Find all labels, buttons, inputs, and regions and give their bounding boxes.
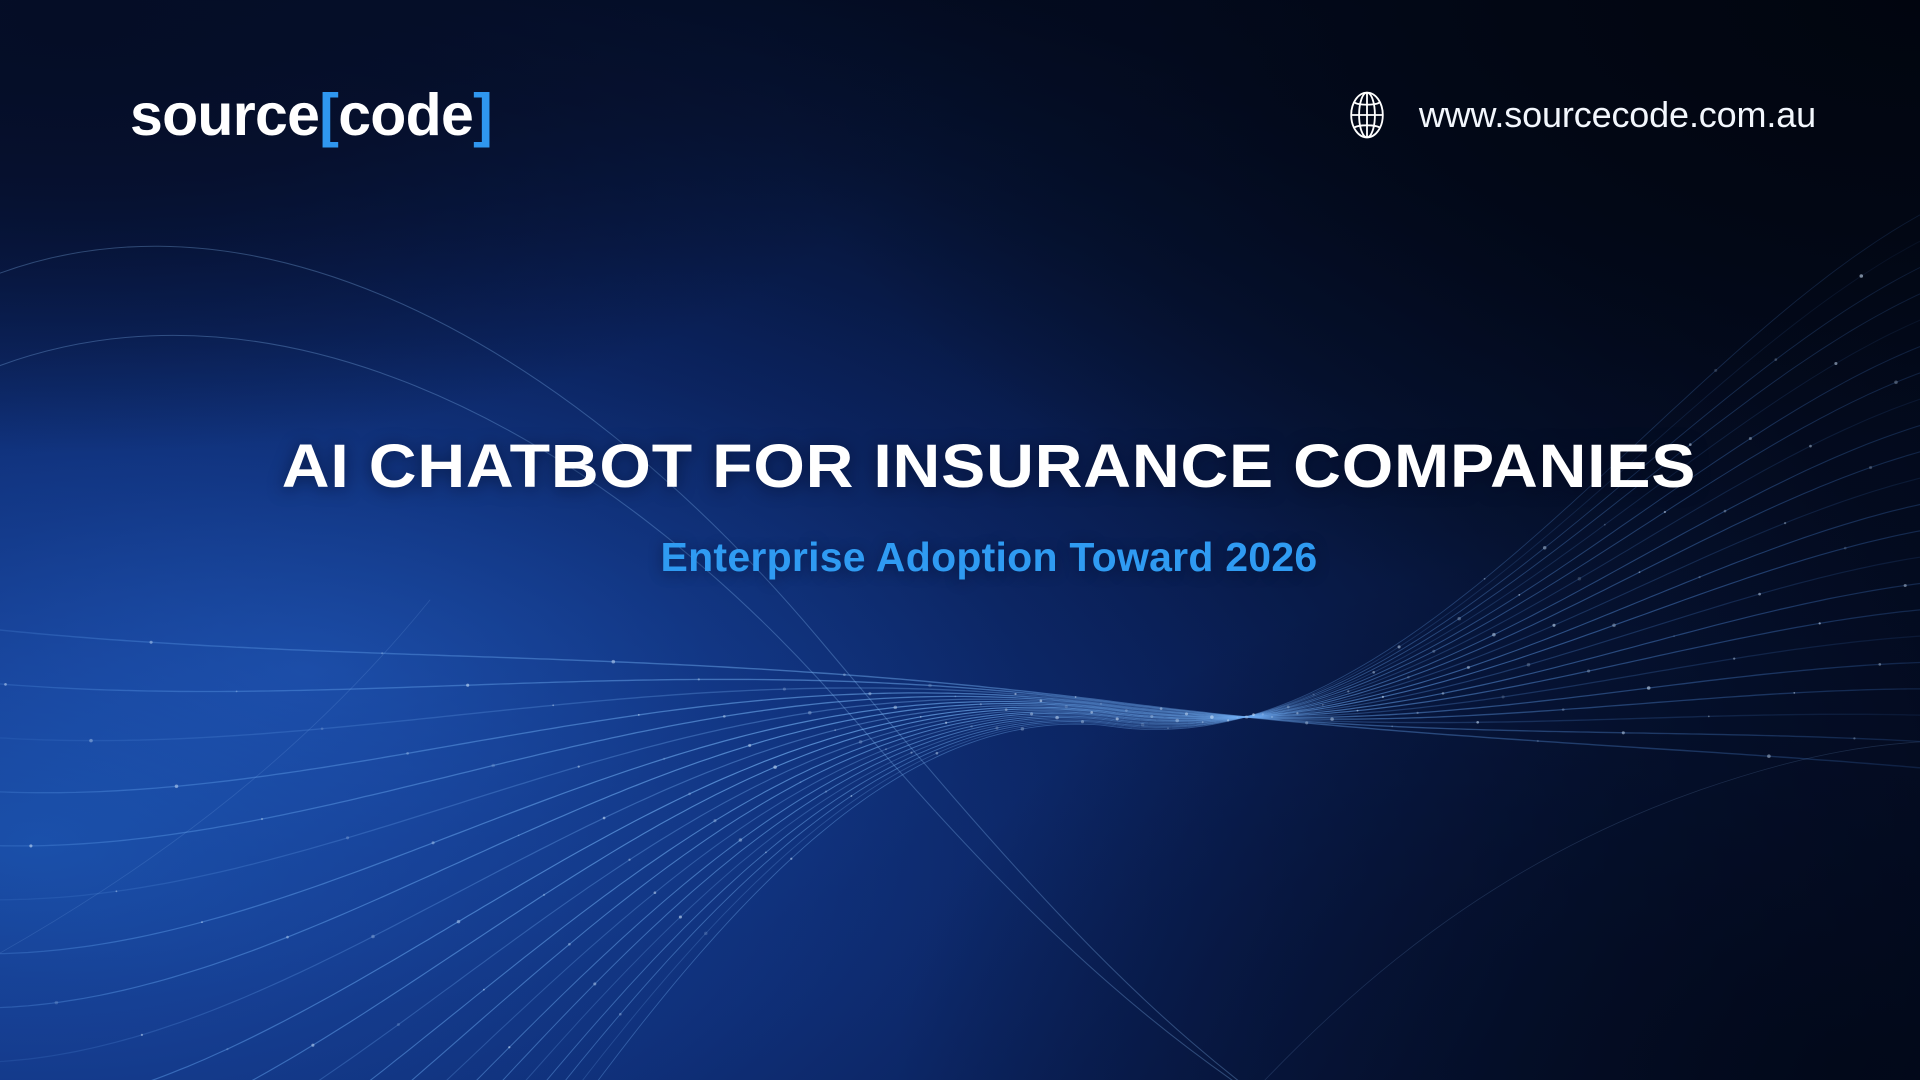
logo-bracket-close: ]	[473, 86, 492, 145]
page-subtitle: Enterprise Adoption Toward 2026	[58, 533, 1920, 582]
page-title: AI CHATBOT FOR INSURANCE COMPANIES	[0, 432, 1920, 500]
logo-bracket-open: [	[319, 86, 338, 145]
logo-word-code: code	[338, 86, 473, 145]
hero-text-block: AI CHATBOT FOR INSURANCE COMPANIES Enter…	[0, 432, 1920, 583]
slide-header: source [ code ] www.sourcecode.com.au	[0, 0, 1920, 230]
slide-canvas: source [ code ] www.sourcecode.com.au AI…	[0, 0, 1920, 1080]
website-link[interactable]: www.sourcecode.com.au	[1340, 88, 1816, 142]
website-url-text: www.sourcecode.com.au	[1419, 97, 1816, 133]
globe-icon	[1340, 88, 1394, 142]
logo-word-source: source	[130, 86, 319, 145]
brand-logo[interactable]: source [ code ]	[130, 86, 492, 145]
